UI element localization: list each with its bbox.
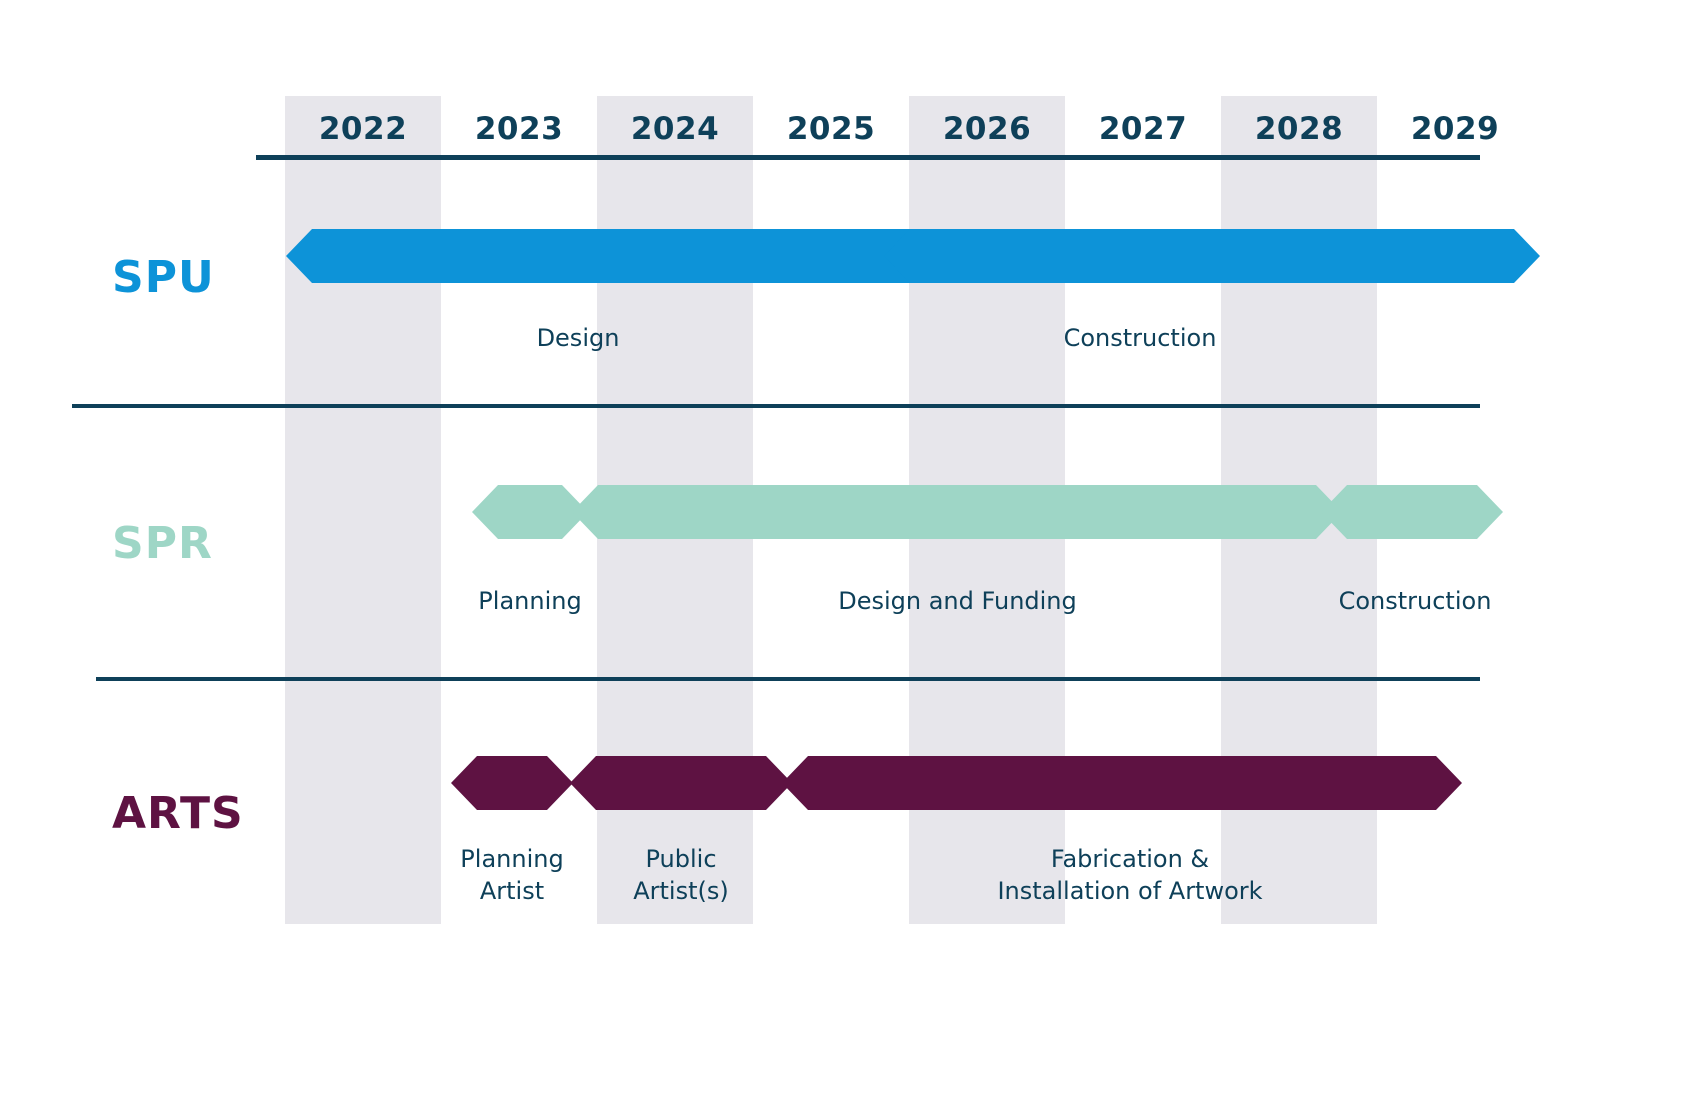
row-label-arts: ARTS [112,788,244,839]
caption-arts-fabrication-installation: Fabrication & Installation of Artwork [975,843,1285,907]
year-label-2028: 2028 [1221,108,1377,150]
timeline-diagram: 2022 2023 2024 2025 2026 2027 2028 2029 … [0,0,1700,1100]
row-divider-spr-arts [96,677,1480,681]
caption-spu-design: Design [453,322,703,354]
bar-arts-planning-artist[interactable] [451,756,573,810]
caption-spr-design-funding: Design and Funding [800,585,1115,617]
row-label-spu: SPU [112,252,215,303]
year-label-2029: 2029 [1377,108,1533,150]
caption-spu-construction: Construction [1015,322,1265,354]
row-label-spr: SPR [112,518,213,569]
bar-spr-design-funding[interactable] [572,485,1342,539]
caption-arts-public-artist: Public Artist(s) [556,843,806,907]
year-label-2022: 2022 [285,108,441,150]
year-label-2023: 2023 [441,108,597,150]
caption-spr-construction: Construction [1290,585,1540,617]
axis-rule-top [256,155,1480,160]
row-divider-spu-spr [72,404,1480,408]
caption-spr-planning: Planning [405,585,655,617]
bar-arts-fabrication-installation[interactable] [782,756,1462,810]
year-label-2027: 2027 [1065,108,1221,150]
bar-spu-construction[interactable] [884,229,1540,283]
bar-arts-public-artist[interactable] [570,756,792,810]
year-label-2024: 2024 [597,108,753,150]
year-label-2025: 2025 [753,108,909,150]
year-label-2026: 2026 [909,108,1065,150]
year-band-2022 [285,96,441,924]
bar-spr-construction[interactable] [1321,485,1503,539]
bar-spu-design[interactable] [286,229,964,283]
bar-spr-planning[interactable] [472,485,588,539]
